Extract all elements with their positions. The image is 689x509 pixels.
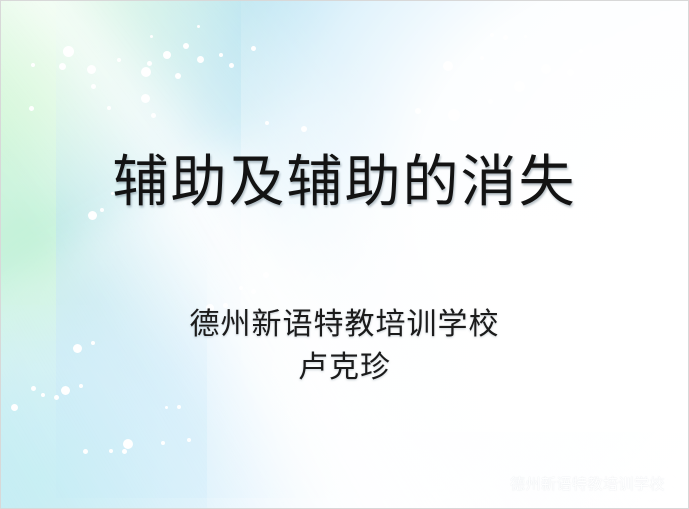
slide-subtitle: 德州新语特教培训学校 卢克珍 (1, 304, 688, 389)
wechat-watermark: 德州新语特教培训学校 (482, 473, 665, 494)
wechat-icon (482, 473, 503, 494)
watermark-label: 德州新语特教培训学校 (510, 473, 665, 494)
subtitle-organization: 德州新语特教培训学校 (1, 304, 688, 347)
presentation-slide: 辅助及辅助的消失 德州新语特教培训学校 卢克珍 德州新语特教培训学校 (0, 0, 689, 509)
subtitle-presenter-name: 卢克珍 (1, 347, 688, 390)
slide-title: 辅助及辅助的消失 (1, 152, 688, 215)
